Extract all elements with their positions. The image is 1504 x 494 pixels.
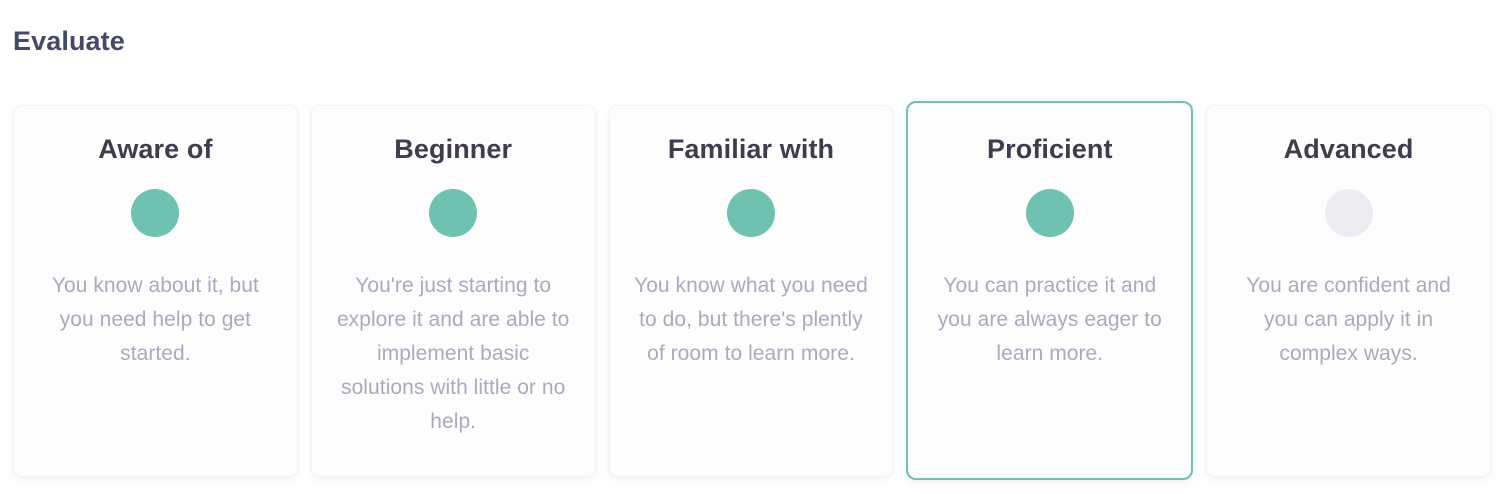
level-description: You can practice it and you are always e…: [930, 269, 1170, 371]
level-dot-wrapper: [131, 188, 179, 238]
filled-circle-icon: [727, 189, 775, 237]
level-title: Aware of: [98, 132, 212, 166]
page-title: Evaluate: [13, 22, 125, 60]
level-dot-wrapper: [1325, 188, 1373, 238]
level-title: Beginner: [394, 132, 512, 166]
level-title: Advanced: [1284, 132, 1414, 166]
evaluate-page: Evaluate Aware of You know about it, but…: [0, 0, 1504, 494]
level-title: Familiar with: [668, 132, 834, 166]
level-dot-wrapper: [1026, 188, 1074, 238]
level-title: Proficient: [987, 132, 1113, 166]
level-card-aware-of[interactable]: Aware of You know about it, but you need…: [13, 105, 298, 477]
level-dot-wrapper: [429, 188, 477, 238]
filled-circle-icon: [429, 189, 477, 237]
skill-level-options: Aware of You know about it, but you need…: [13, 105, 1491, 477]
level-dot-wrapper: [727, 188, 775, 238]
level-description: You know what you need to do, but there'…: [631, 269, 871, 371]
level-card-familiar-with[interactable]: Familiar with You know what you need to …: [609, 105, 894, 477]
filled-circle-icon: [1026, 189, 1074, 237]
filled-circle-icon: [131, 189, 179, 237]
level-card-proficient[interactable]: Proficient You can practice it and you a…: [906, 101, 1193, 480]
level-card-advanced[interactable]: Advanced You are confident and you can a…: [1206, 105, 1491, 477]
empty-circle-icon: [1325, 189, 1373, 237]
level-description: You are confident and you can apply it i…: [1229, 269, 1469, 371]
level-description: You know about it, but you need help to …: [35, 269, 275, 371]
level-description: You're just starting to explore it and a…: [333, 269, 573, 439]
level-card-beginner[interactable]: Beginner You're just starting to explore…: [311, 105, 596, 477]
